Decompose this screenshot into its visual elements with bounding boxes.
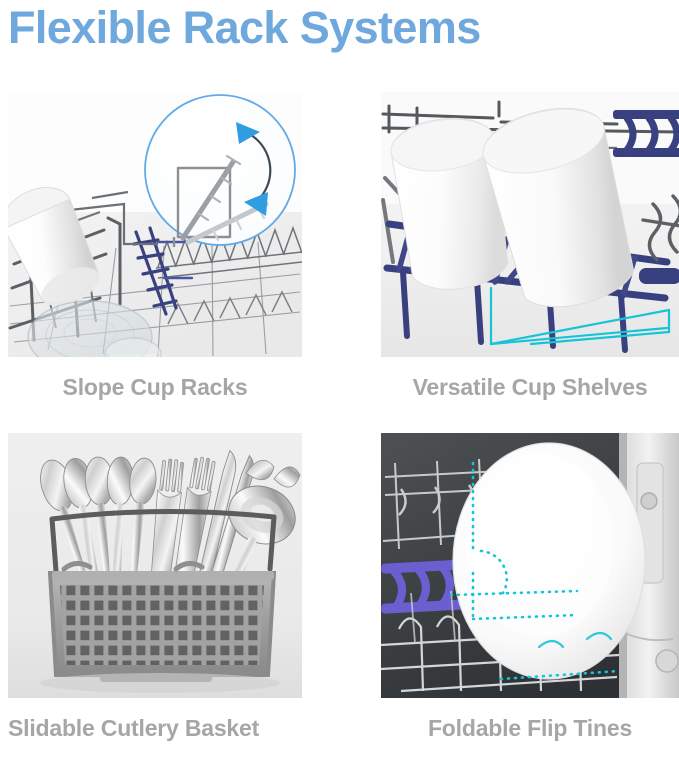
plate [453,443,645,679]
feature-caption-slidable-cutlery-basket: Slidable Cutlery Basket [8,714,302,742]
cup-shelves-illustration [381,92,679,357]
infographic-page: Flexible Rack Systems [0,0,679,733]
cutlery-basket-illustration [8,433,302,698]
feature-caption-foldable-flip-tines: Foldable Flip Tines [381,714,679,742]
feature-card-foldable-flip-tines: Foldable Flip Tines [381,433,679,766]
feature-caption-versatile-cup-shelves: Versatile Cup Shelves [381,373,679,401]
feature-card-slope-cup-racks: Slope Cup Racks [8,92,302,425]
page-title: Flexible Rack Systems [8,2,671,54]
slope-cup-rack-illustration [8,92,302,357]
feature-grid: Slope Cup Racks [0,92,679,733]
feature-photo-slope-cup-racks [8,92,302,357]
feature-card-slidable-cutlery-basket: Slidable Cutlery Basket [8,433,302,766]
feature-photo-foldable-flip-tines [381,433,679,698]
feature-photo-versatile-cup-shelves [381,92,679,357]
rotation-callout [145,95,295,247]
basket-body [50,563,274,682]
feature-caption-slope-cup-racks: Slope Cup Racks [8,373,302,401]
feature-card-versatile-cup-shelves: Versatile Cup Shelves [381,92,679,425]
feature-photo-slidable-cutlery-basket [8,433,302,698]
flip-tines-illustration [381,433,679,698]
